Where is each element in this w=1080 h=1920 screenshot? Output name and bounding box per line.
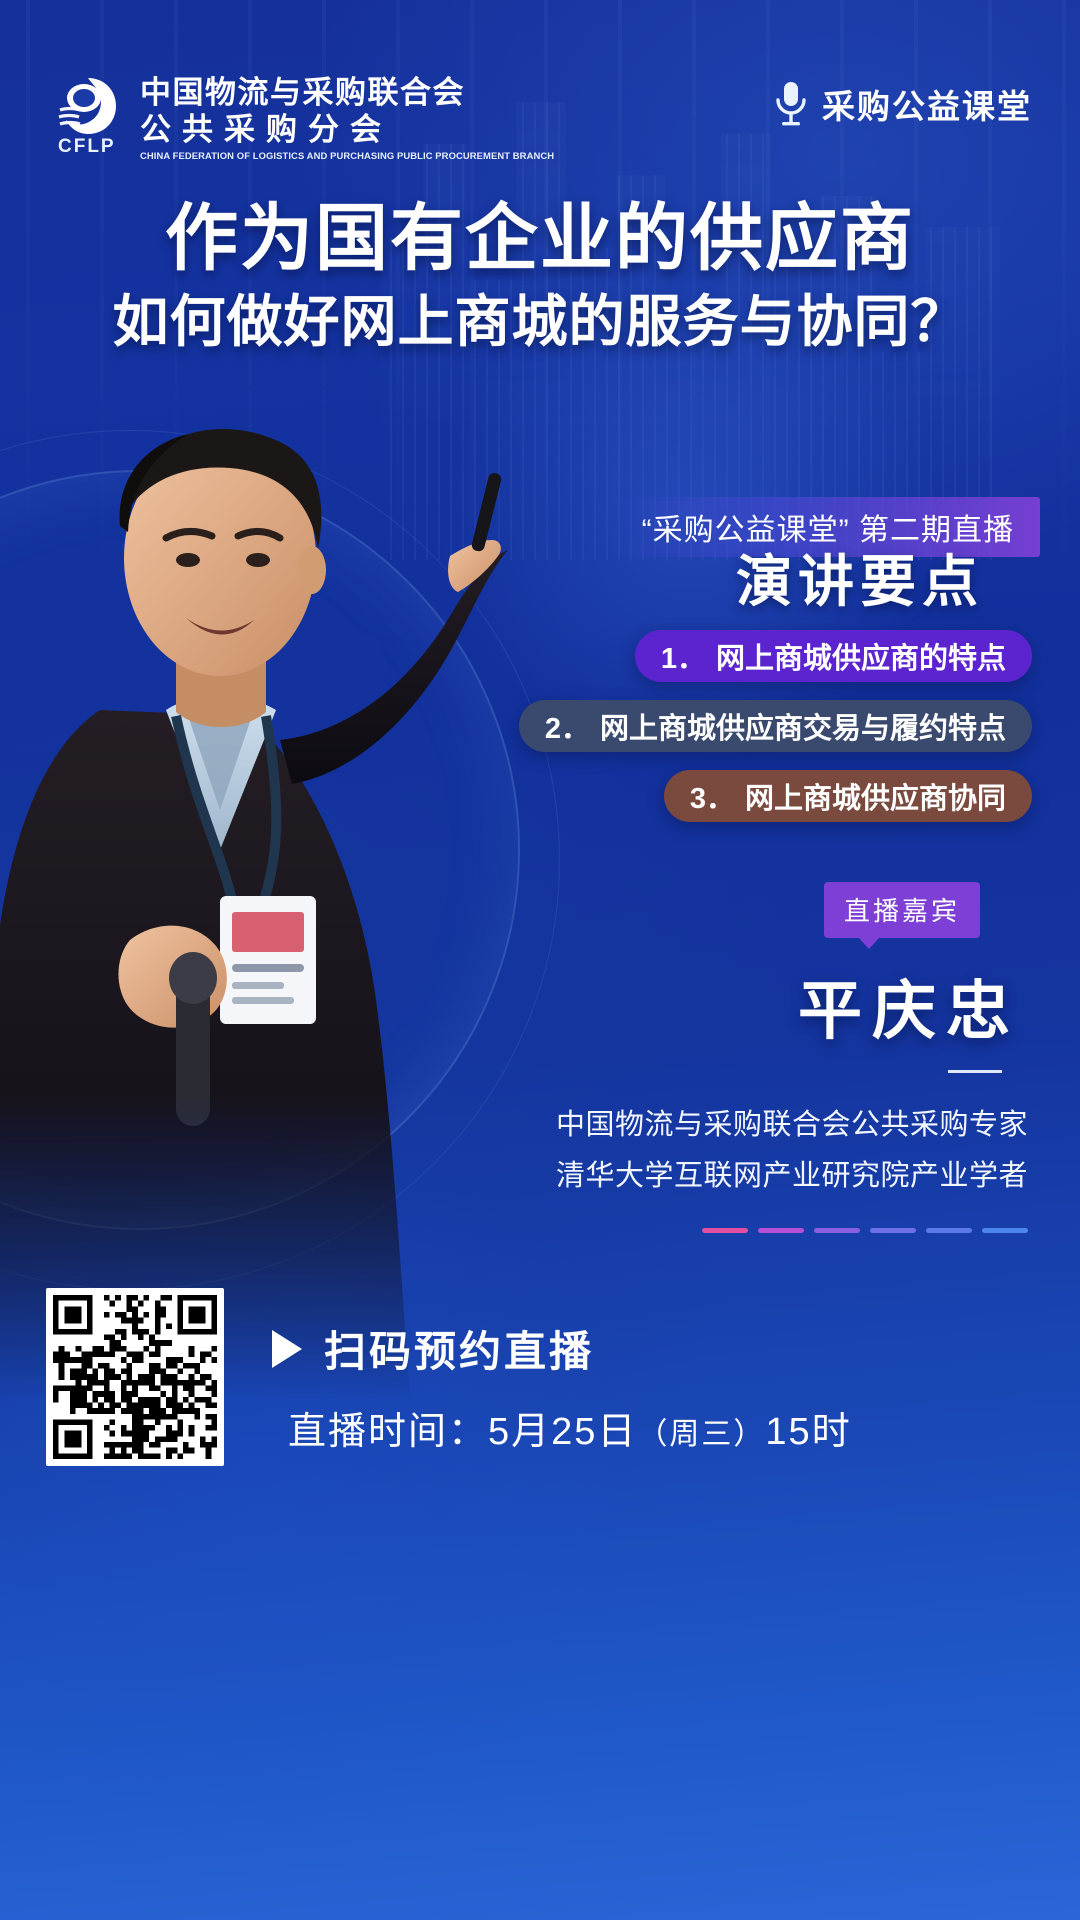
qr-code[interactable]	[46, 1288, 224, 1466]
play-triangle-icon	[272, 1330, 302, 1368]
organization-logo: CFLP 中国物流与采购联合会 公共采购分会 CHINA FEDERATION …	[52, 72, 558, 162]
live-time-weekday: （周三）	[637, 1418, 765, 1451]
logo-line-1: 中国物流与采购联合会	[140, 76, 558, 111]
live-time-date: 5月25日	[488, 1411, 637, 1453]
dash-6	[982, 1228, 1028, 1233]
key-point-number-1: 1．	[661, 635, 706, 677]
live-time-hour: 15时	[765, 1411, 851, 1453]
live-time: 直播时间：5月25日（周三）15时	[288, 1400, 852, 1455]
title-line-2: 如何做好网上商城的服务与协同？	[0, 288, 1080, 355]
key-point-label-2: 网上商城供应商交易与履约特点	[600, 705, 1006, 747]
guest-titles: 中国物流与采购联合会公共采购专家 清华大学互联网产业研究院产业学者	[556, 1100, 1028, 1202]
dash-5	[926, 1228, 972, 1233]
key-point-label-1: 网上商城供应商的特点	[716, 635, 1006, 677]
key-point-number-3: 3．	[690, 775, 735, 817]
dash-1	[702, 1228, 748, 1233]
guest-name: 平庆忠	[798, 960, 1020, 1052]
dash-divider	[702, 1228, 1028, 1233]
cflp-globe-logo-icon: CFLP	[52, 72, 126, 152]
live-series-badge: 采购公益课堂	[774, 80, 1032, 128]
key-point-item-3: 3． 网上商城供应商协同	[664, 770, 1032, 822]
key-point-item-1: 1． 网上商城供应商的特点	[635, 630, 1032, 682]
cflp-abbreviation: CFLP	[58, 136, 116, 158]
scan-label: 扫码预约直播	[324, 1318, 594, 1379]
guest-tag: 直播嘉宾	[824, 882, 980, 938]
key-point-item-2: 2． 网上商城供应商交易与履约特点	[519, 700, 1032, 752]
qr-code-image	[53, 1295, 217, 1459]
poster-root: CFLP 中国物流与采购联合会 公共采购分会 CHINA FEDERATION …	[0, 0, 1080, 1920]
speaker-photo	[0, 380, 540, 1400]
title-line-1: 作为国有企业的供应商	[0, 198, 1080, 280]
logo-english-name: CHINA FEDERATION OF LOGISTICS AND PURCHA…	[140, 151, 554, 162]
live-time-prefix: 直播时间：	[288, 1411, 488, 1453]
logo-line-2: 公共采购分会	[140, 111, 558, 148]
poster-header: CFLP 中国物流与采购联合会 公共采购分会 CHINA FEDERATION …	[0, 72, 1080, 164]
dash-2	[758, 1228, 804, 1233]
live-series-label: 采购公益课堂	[822, 80, 1032, 128]
poster-title: 作为国有企业的供应商 如何做好网上商城的服务与协同？	[0, 198, 1080, 355]
dash-4	[870, 1228, 916, 1233]
key-points-heading: 演讲要点	[736, 537, 984, 618]
scan-prompt: 扫码预约直播	[272, 1318, 594, 1379]
key-point-label-3: 网上商城供应商协同	[745, 775, 1006, 817]
dash-3	[814, 1228, 860, 1233]
guest-divider	[948, 1070, 1002, 1073]
key-point-number-2: 2．	[545, 705, 590, 747]
microphone-icon	[774, 81, 808, 127]
guest-title-2: 清华大学互联网产业研究院产业学者	[556, 1151, 1028, 1202]
guest-title-1: 中国物流与采购联合会公共采购专家	[556, 1100, 1028, 1151]
key-points-list: 1． 网上商城供应商的特点 2． 网上商城供应商交易与履约特点 3． 网上商城供…	[519, 630, 1032, 822]
